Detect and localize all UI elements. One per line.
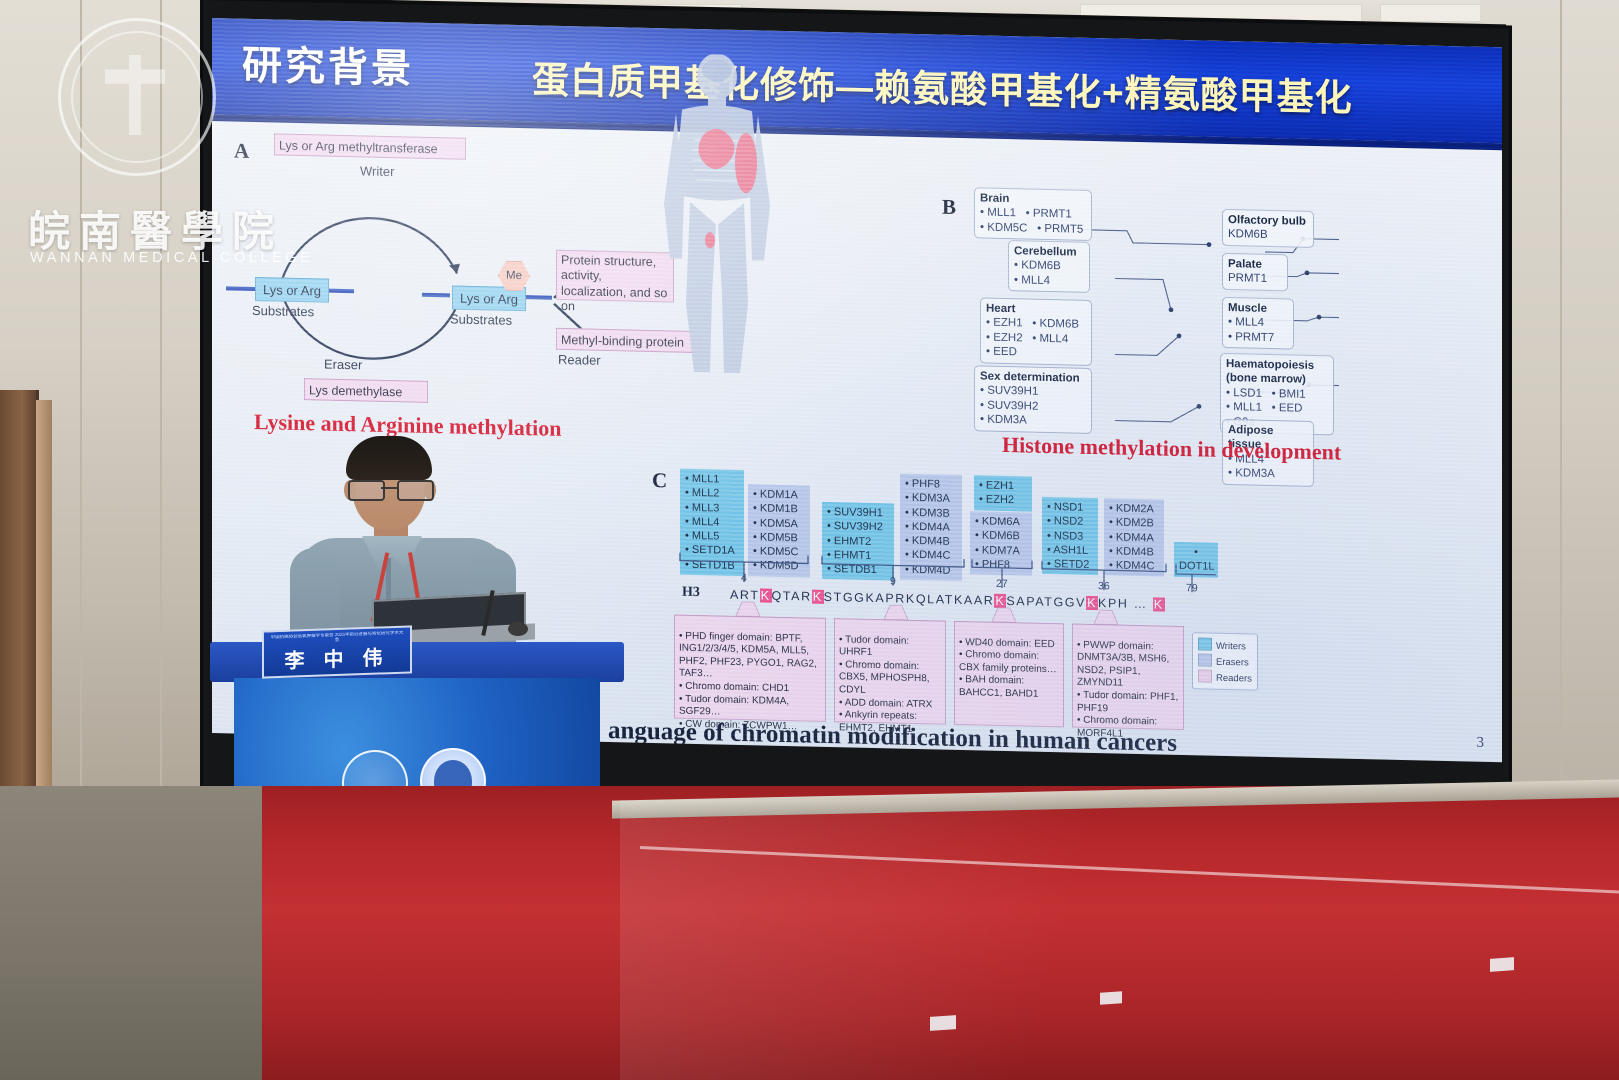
reader-box-text: • PHD finger domain: BPTF, ING1/2/3/4/5,…: [679, 630, 817, 732]
gene: • EZH2: [979, 493, 1027, 508]
gene: • KDM6A: [975, 514, 1027, 529]
gene: • KDM5A: [753, 516, 805, 531]
reader-box-text: • WD40 domain: EED • Chromo domain: CBX …: [959, 637, 1057, 700]
gene: • KDM5B: [753, 530, 805, 545]
panel-c-legend: Writers Erasers Readers: [1192, 632, 1258, 691]
gene: • KDM1A: [753, 487, 805, 502]
watermark-crest-icon: [58, 18, 216, 176]
panel-c-reader-box: • WD40 domain: EED • Chromo domain: CBX …: [954, 621, 1064, 727]
panel-a-eraser-box: Lys demethylase: [304, 378, 428, 403]
panel-c-reader-box: • Tudor domain: UHRF1 • Chromo domain: C…: [834, 618, 946, 725]
gene: • KDM1B: [753, 502, 805, 517]
gene: MLL4: [1021, 274, 1050, 287]
tissue-name: Olfactory bulb: [1228, 214, 1306, 228]
gene: • NSD3: [1047, 529, 1093, 544]
speaker-nameplate: 中国抗癌协会低氧肿瘤学专委会 2025年前沿进展与转化研究学术大会 李 中 伟: [262, 625, 412, 678]
gene: EZH2: [993, 332, 1022, 345]
gene: • EZH1: [979, 478, 1027, 493]
tissue-name: Cerebellum: [1014, 245, 1077, 258]
panel-b-tissue-sex-determination: Sex determination • SUV39H1 • SUV39H2 • …: [974, 365, 1092, 434]
gene: SUV39H2: [987, 400, 1038, 413]
panel-a-substrate-left: Lys or Arg: [255, 277, 329, 303]
legend-item-readers: Readers: [1198, 669, 1252, 686]
gene: • MLL1: [685, 472, 739, 488]
nameplate-speaker-name: 李 中 伟: [264, 640, 410, 674]
gene: LSD1: [1233, 387, 1262, 400]
legend-item-erasers: Erasers: [1198, 653, 1252, 670]
door-panel: [36, 400, 52, 850]
legend-label: Writers: [1216, 641, 1246, 653]
seq-part-marked: K: [1086, 596, 1098, 610]
gene: EZH1: [993, 317, 1022, 330]
carpet-highlight: [620, 800, 1619, 1080]
residue-number: 27: [996, 578, 1008, 590]
seq-part-marked: K: [812, 590, 824, 604]
gene: • KDM3B: [905, 505, 957, 520]
gene: MLL1: [1233, 402, 1262, 415]
presentation-scene: 研究背景 蛋白质甲基化修饰—赖氨酸甲基化+精氨酸甲基化 A Lys or Arg…: [0, 0, 1619, 1080]
floor-left-tile: [0, 786, 262, 1080]
gene: • NSD2: [1047, 514, 1093, 529]
panel-b-tissue-cerebellum: Cerebellum • KDM6B • MLL4: [1008, 240, 1090, 293]
gene: • KDM7A: [975, 543, 1027, 558]
gene: MLL4: [1039, 333, 1068, 346]
gene: KDM3A: [987, 414, 1027, 427]
legend-label: Readers: [1216, 672, 1252, 684]
floor-paper-scrap: [930, 1015, 956, 1031]
panel-c-reader-box: • PHD finger domain: BPTF, ING1/2/3/4/5,…: [674, 614, 826, 721]
legend-label: Erasers: [1216, 657, 1249, 669]
tissue-name: Muscle: [1228, 302, 1267, 315]
panel-a-reader-label: Reader: [558, 352, 601, 368]
seq-part-marked: K: [1153, 597, 1165, 611]
gene: KDM3A: [1235, 468, 1275, 481]
legend-swatch-erasers: [1198, 653, 1212, 666]
panel-a-substrate-right-caption: Substrates: [450, 311, 512, 327]
gene: PRMT7: [1235, 331, 1274, 344]
speaker-glasses: [348, 480, 432, 497]
watermark-name-en: WANNAN MEDICAL COLLEGE: [30, 250, 314, 266]
panel-a-cycle-arrows: [222, 148, 552, 385]
gene: KDM6B: [1021, 260, 1061, 273]
gene: • SUV39H2: [827, 519, 889, 535]
legend-swatch-writers: [1198, 637, 1212, 650]
slide-page-number: 3: [1477, 735, 1485, 752]
residue-number: 4: [741, 572, 747, 584]
panel-a-substrate-left-caption: Substrates: [252, 303, 314, 319]
slide-section-title: 研究背景: [242, 33, 414, 95]
seq-part-marked: K: [994, 594, 1006, 608]
gene: EED: [1279, 403, 1303, 416]
tissue-name: Haematopoiesis (bone marrow): [1226, 358, 1314, 386]
gene: • KDM4A: [1109, 530, 1159, 545]
gene: EED: [993, 346, 1017, 359]
gene: • KDM2B: [1109, 516, 1159, 531]
gene: • SUV39H1: [827, 505, 889, 521]
gene: • KDM3A: [905, 491, 957, 506]
panel-b-tissue-heart: Heart • EZH1 • KDM6B • EZH2 • MLL4 • EED: [980, 297, 1092, 365]
panel-a-eraser-label: Eraser: [324, 357, 362, 373]
wall-seam: [1560, 0, 1562, 880]
gene: KDM6B: [1228, 229, 1268, 242]
gene: • MLL5: [685, 529, 739, 545]
residue-number: 9: [890, 575, 896, 587]
gene: • KDM2A: [1109, 501, 1159, 516]
panel-c-letter: C: [652, 468, 667, 493]
reader-box-text: • PWWP domain: DNMT3A/3B, MSH6, NSD2, PS…: [1077, 639, 1178, 739]
legend-swatch-readers: [1198, 669, 1212, 682]
gene: • MLL3: [685, 500, 739, 516]
microphone-head: [508, 622, 528, 636]
panel-b-tissue-muscle: Muscle • MLL4 • PRMT7: [1222, 297, 1294, 350]
gene: KDM5C: [987, 222, 1027, 235]
gene: • MLL2: [685, 486, 739, 502]
gene: MLL4: [1235, 317, 1264, 330]
gene: • KDM4B: [1109, 544, 1159, 559]
gene: PRMT1: [1228, 273, 1267, 286]
gene: PRMT5: [1044, 223, 1083, 236]
tissue-name: Palate: [1228, 258, 1262, 271]
panel-c-reader-box: • PWWP domain: DNMT3A/3B, MSH6, NSD2, PS…: [1072, 624, 1184, 731]
tissue-name: Heart: [986, 303, 1015, 316]
gene: • ASH1L: [1047, 543, 1093, 558]
floor-paper-scrap: [1100, 991, 1122, 1005]
human-body-silhouette: [642, 53, 792, 386]
gene: • MLL4: [685, 515, 739, 531]
gene: • EHMT2: [827, 534, 889, 550]
gene: • KDM4A: [905, 520, 957, 535]
gene: MLL1: [987, 207, 1016, 220]
gene: • NSD1: [1047, 500, 1093, 515]
seq-part: ART: [730, 588, 760, 603]
tissue-name: Sex determination: [980, 370, 1080, 384]
gene: • KDM6B: [975, 529, 1027, 544]
residue-number: 36: [1098, 580, 1110, 592]
legend-item-writers: Writers: [1198, 637, 1252, 654]
seq-part-marked: K: [760, 588, 772, 602]
seq-part: QTAR: [772, 589, 812, 604]
residue-number: 79: [1186, 582, 1198, 594]
gene: • KDM4B: [905, 534, 957, 549]
speaker-hair: [346, 436, 432, 480]
reader-box-text: • Tudor domain: UHRF1 • Chromo domain: C…: [839, 634, 932, 735]
gene: • PHF8: [905, 477, 957, 492]
gene: BMI1: [1279, 388, 1306, 401]
panel-b-tissue-brain: Brain • MLL1 • PRMT1 • KDM5C • PRMT5: [974, 187, 1092, 241]
tissue-name: Brain: [980, 192, 1009, 205]
seq-part: KPH …: [1098, 596, 1153, 611]
gene: PRMT1: [1033, 208, 1072, 221]
floor-paper-scrap: [1490, 957, 1514, 972]
gene: KDM6B: [1039, 318, 1079, 331]
gene: SUV39H1: [987, 385, 1038, 398]
panel-b-tissue-olfactory-bulb: Olfactory bulb KDM6B: [1222, 209, 1314, 248]
panel-b-tissue-palate: Palate PRMT1: [1222, 253, 1288, 291]
histone-label: H3: [682, 585, 700, 601]
panel-c-gene-column: • EZH1 • EZH2: [974, 475, 1032, 511]
